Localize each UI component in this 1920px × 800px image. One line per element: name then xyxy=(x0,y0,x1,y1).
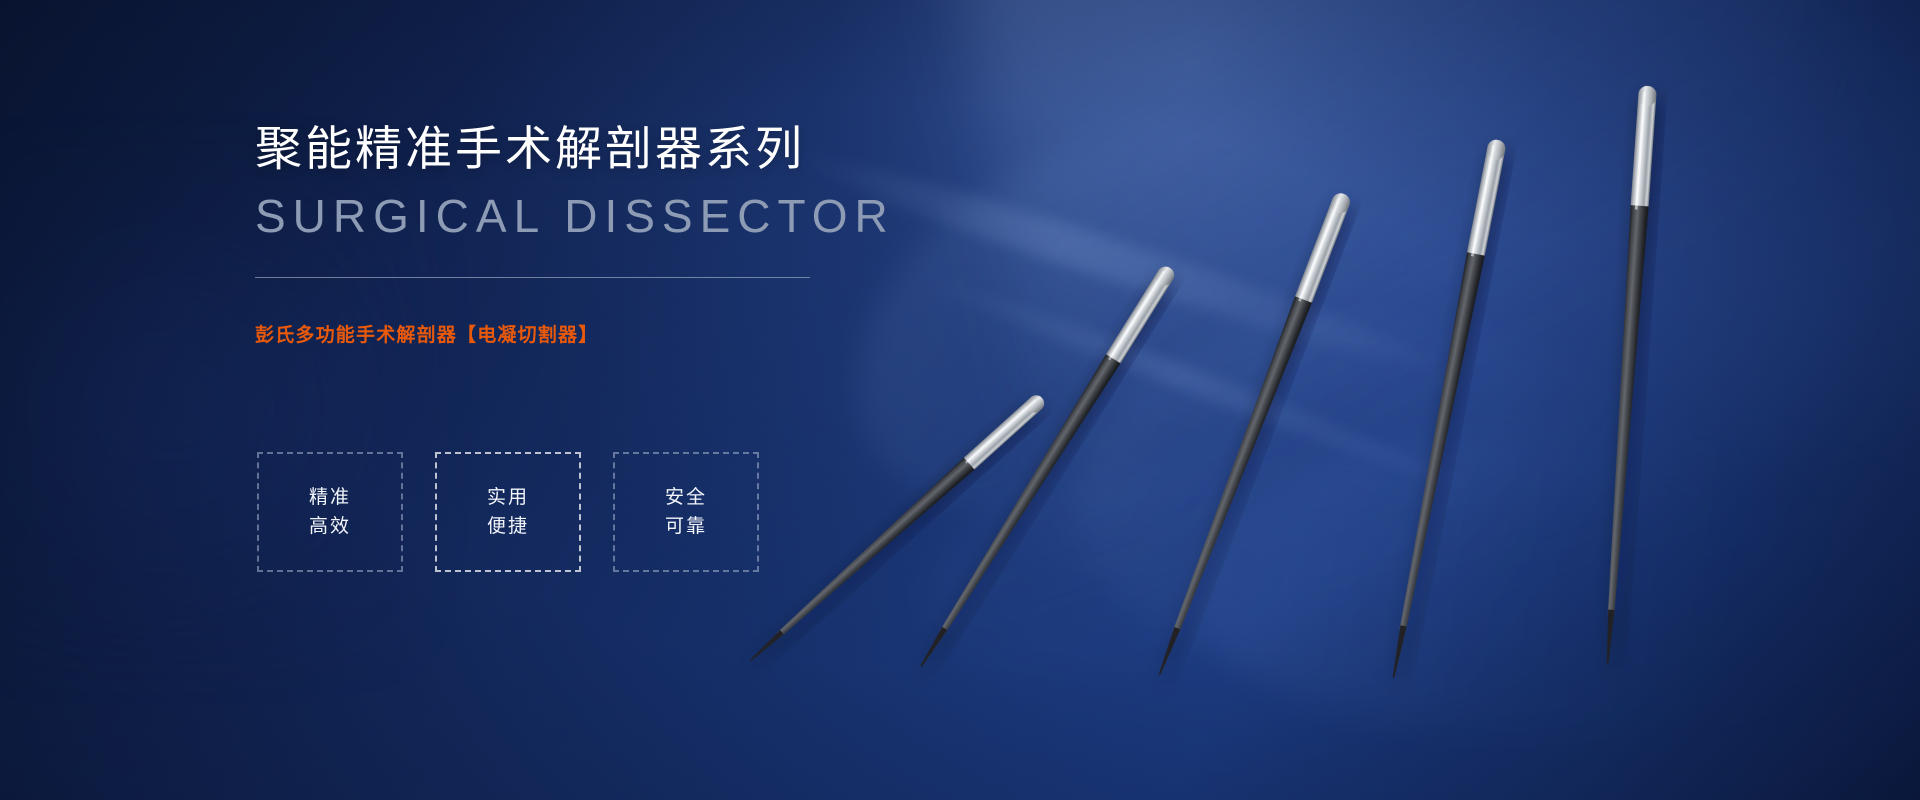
page-subtitle-english: SURGICAL DISSECTOR xyxy=(255,191,955,242)
feature-label-line2: 可靠 xyxy=(665,517,707,536)
hero-text-block: 聚能精准手术解剖器系列 SURGICAL DISSECTOR 彭氏多功能手术解剖… xyxy=(255,120,955,347)
feature-label-line2: 便捷 xyxy=(487,517,529,536)
product-name-label: 彭氏多功能手术解剖器【电凝切割器】 xyxy=(255,320,955,347)
feature-label-line1: 实用 xyxy=(487,488,529,507)
feature-label-line1: 安全 xyxy=(665,488,707,507)
feature-box-safety[interactable]: 安全 可靠 xyxy=(613,452,759,572)
feature-label-line2: 高效 xyxy=(309,517,351,536)
title-divider xyxy=(255,277,810,278)
page-title: 聚能精准手术解剖器系列 xyxy=(255,120,955,179)
feature-label-line1: 精准 xyxy=(309,488,351,507)
feature-box-precision[interactable]: 精准 高效 xyxy=(257,452,403,572)
feature-box-group: 精准 高效 实用 便捷 安全 可靠 xyxy=(257,452,759,572)
feature-box-practical[interactable]: 实用 便捷 xyxy=(435,452,581,572)
hero-banner: 聚能精准手术解剖器系列 SURGICAL DISSECTOR 彭氏多功能手术解剖… xyxy=(0,0,1920,800)
